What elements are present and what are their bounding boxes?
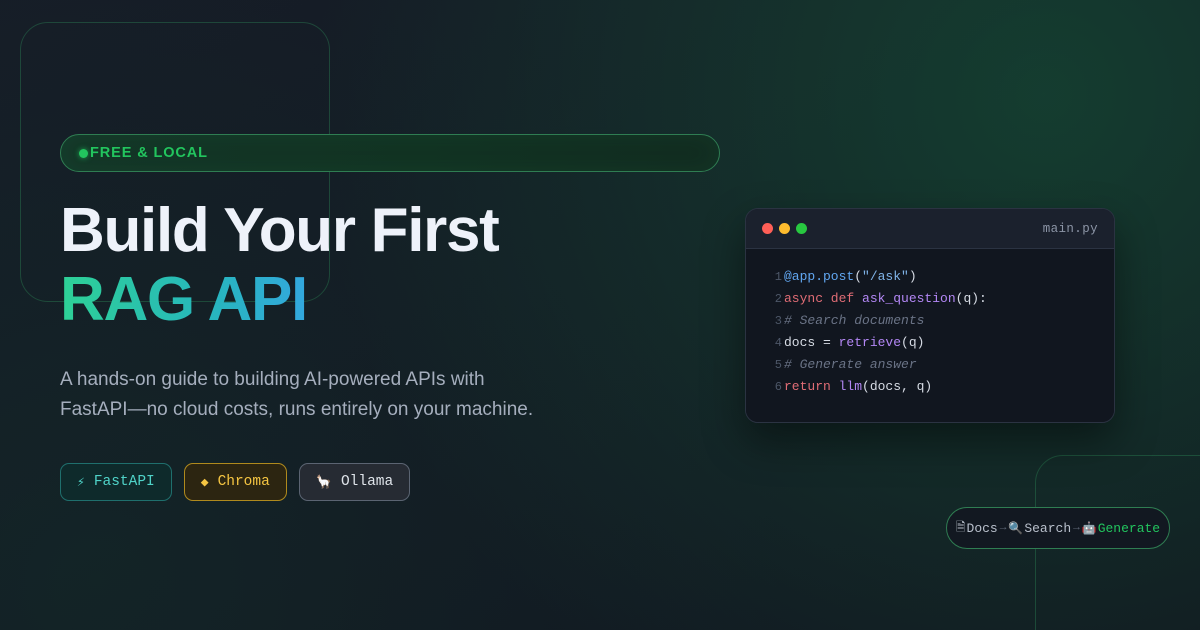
code-line: 3# Search documents	[746, 313, 1114, 335]
chip-ollama[interactable]: 🦙 Ollama	[299, 463, 410, 501]
code-token: (q):	[956, 291, 987, 306]
status-badge-label: FREE & LOCAL	[90, 145, 208, 161]
flow-step-label: Search	[1024, 521, 1071, 536]
code-token: # Generate answer	[784, 357, 917, 372]
code-line-number: 2	[770, 292, 782, 306]
code-token: @app.post	[784, 269, 854, 284]
close-icon[interactable]	[762, 223, 773, 234]
code-line: 6return llm(docs, q)	[746, 379, 1114, 401]
document-icon: 🗎	[956, 518, 966, 539]
hero-content: FREE & LOCAL Build Your First RAG API A …	[60, 134, 740, 501]
search-icon: 🔍	[1008, 521, 1023, 536]
code-token: (q)	[901, 335, 924, 350]
title-line-primary: Build Your First	[60, 200, 740, 262]
code-line: 2async def ask_question(q):	[746, 291, 1114, 313]
robot-icon: 🤖	[1082, 521, 1097, 536]
code-token: return	[784, 379, 839, 394]
code-line: 4docs = retrieve(q)	[746, 335, 1114, 357]
flow-step-search: 🔍Search	[1008, 521, 1071, 536]
code-token: "/ask"	[862, 269, 909, 284]
status-dot-icon	[79, 149, 88, 158]
code-filename-label: main.py	[1043, 222, 1098, 236]
lightning-icon: ⚡	[77, 476, 85, 489]
chip-fastapi-label: FastAPI	[94, 474, 155, 490]
code-editor-content: 1@app.post("/ask")2async def ask_questio…	[746, 249, 1114, 423]
code-line-number: 5	[770, 358, 782, 372]
chip-chroma[interactable]: ◆ Chroma	[184, 463, 287, 501]
title-line-accent: RAG API	[60, 269, 740, 331]
code-token: )	[909, 269, 917, 284]
code-preview-window: main.py 1@app.post("/ask")2async def ask…	[745, 208, 1115, 423]
code-line-number: 6	[770, 380, 782, 394]
tech-stack-chips: ⚡ FastAPI ◆ Chroma 🦙 Ollama	[60, 463, 740, 501]
code-token: async def	[784, 291, 862, 306]
rag-flow-pill: 🗎Docs→🔍Search→🤖Generate	[946, 507, 1170, 549]
chip-chroma-label: Chroma	[218, 474, 270, 490]
llama-icon: 🦙	[316, 476, 332, 489]
traffic-light-controls	[762, 223, 807, 234]
code-token: (	[854, 269, 862, 284]
poster-canvas: FREE & LOCAL Build Your First RAG API A …	[0, 0, 1200, 630]
chip-ollama-label: Ollama	[341, 474, 393, 490]
code-window-titlebar: main.py	[746, 209, 1114, 249]
minimize-icon[interactable]	[779, 223, 790, 234]
maximize-icon[interactable]	[796, 223, 807, 234]
page-title: Build Your First RAG API	[60, 200, 740, 331]
code-line-number: 4	[770, 336, 782, 350]
flow-arrow-icon: →	[1073, 522, 1080, 534]
flow-step-label: Docs	[967, 521, 998, 536]
code-line-number: 3	[770, 314, 782, 328]
code-token: llm	[839, 379, 862, 394]
code-token: # Search documents	[784, 313, 924, 328]
code-line-number: 1	[770, 270, 782, 284]
flow-step-label: Generate	[1098, 521, 1160, 536]
status-badge: FREE & LOCAL	[60, 134, 720, 172]
code-token: retrieve	[839, 335, 901, 350]
code-token: ask_question	[862, 291, 956, 306]
code-line: 1@app.post("/ask")	[746, 269, 1114, 291]
diamond-icon: ◆	[201, 476, 209, 489]
code-token: (docs, q)	[862, 379, 932, 394]
flow-step-docs: 🗎Docs	[956, 518, 998, 539]
code-token: docs =	[784, 335, 839, 350]
code-line: 5# Generate answer	[746, 357, 1114, 379]
hero-subtitle: A hands-on guide to building AI-powered …	[60, 365, 540, 425]
flow-arrow-icon: →	[1000, 522, 1007, 534]
flow-step-generate: 🤖Generate	[1082, 521, 1160, 536]
chip-fastapi[interactable]: ⚡ FastAPI	[60, 463, 172, 501]
